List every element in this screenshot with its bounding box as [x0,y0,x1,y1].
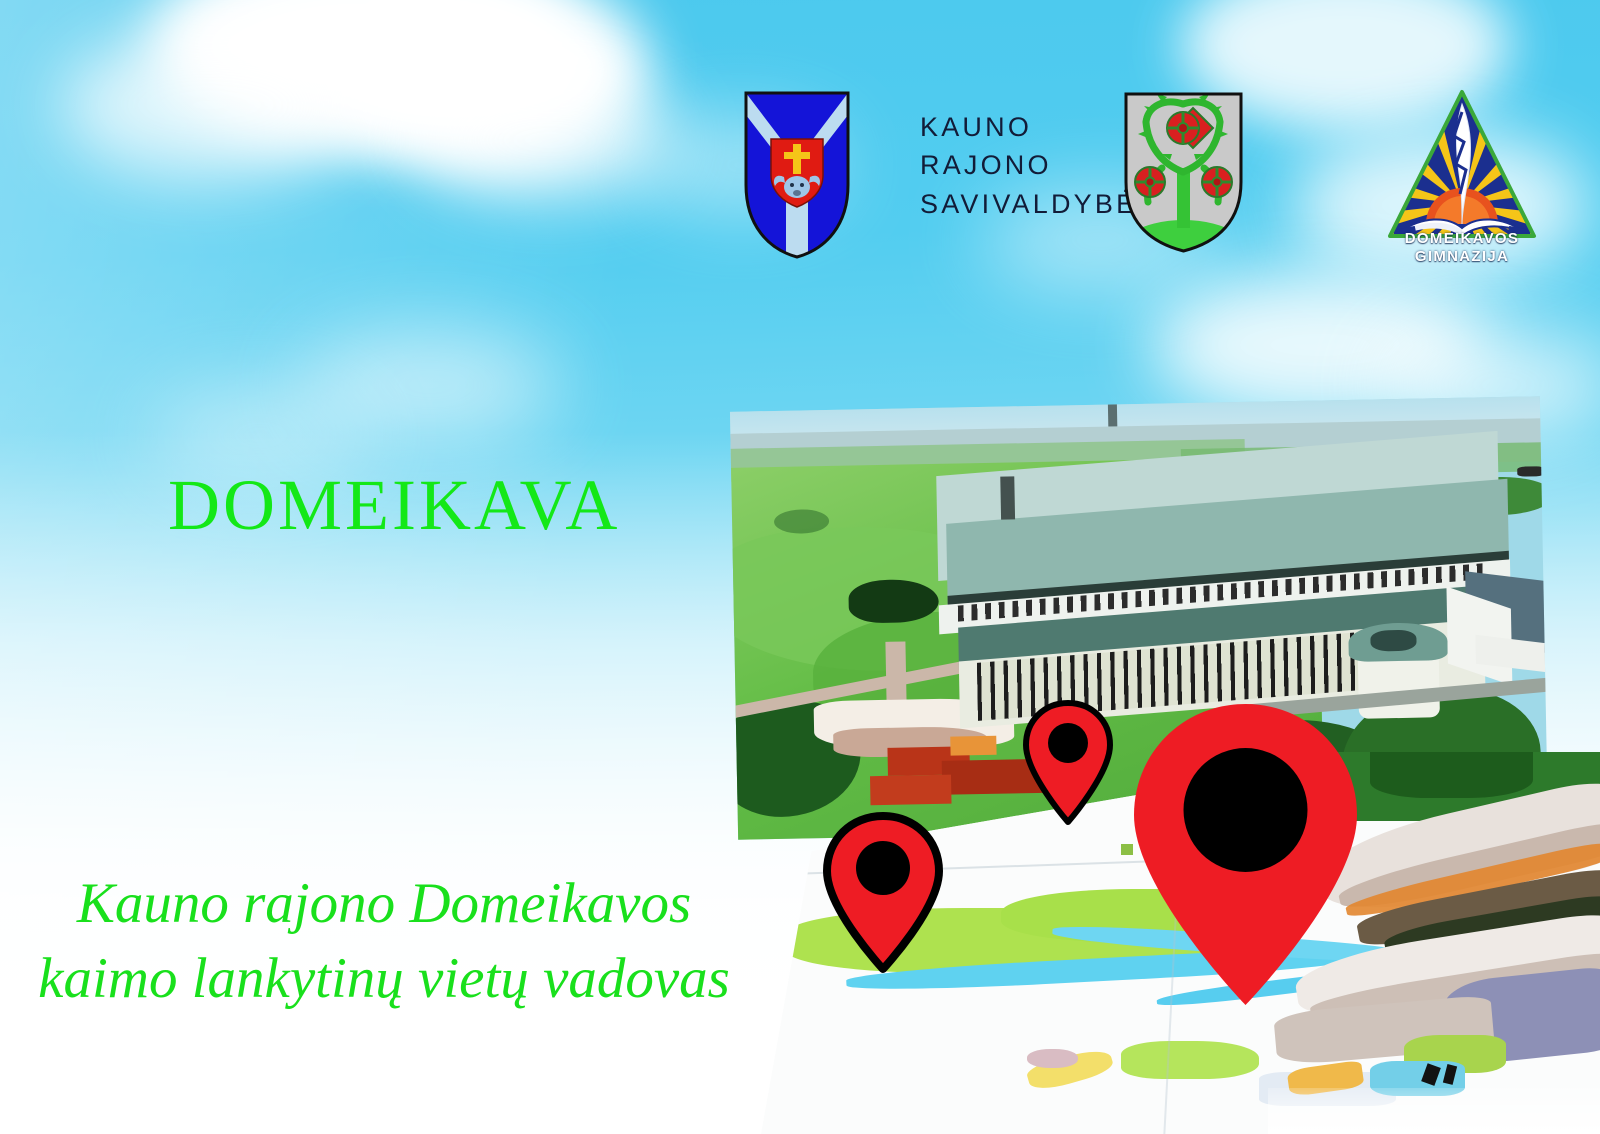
photo-car [1517,466,1544,476]
emblem-row: KAUNO RAJONO SAVIVALDYBĖ [742,84,1542,284]
map-pin-small-right[interactable] [1020,700,1116,826]
photo-orange-roof [951,736,997,756]
hand-bottom-fade [1268,1088,1600,1134]
cloud-shape [300,330,560,440]
cloud-shape [420,80,680,200]
rose [1135,167,1165,197]
hand-bg-foliage [1370,752,1533,798]
kauno-rajono-savivaldybe-coat-of-arms [742,89,852,261]
page-subtitle: Kauno rajono Domeikavos kaimo lankytinų … [24,866,744,1016]
domeikava-coat-of-arms [1122,90,1245,255]
photo-mast [1107,396,1117,427]
photo-pole [1000,477,1014,520]
photo-red-roof [870,775,952,805]
photo-house-chimney [1547,595,1548,615]
photo-turret-dark [1371,629,1417,651]
map-pink-area [1027,1049,1079,1068]
rose [1202,167,1232,197]
cloud-shape [150,0,570,150]
map-pin-small-left[interactable] [820,812,946,974]
map-pin-large[interactable] [1128,700,1363,1012]
brochure-cover-page: KAUNO RAJONO SAVIVALDYBĖ [0,0,1600,1134]
page-title: DOMEIKAVA [168,464,620,547]
domeikavos-gimnazija-label: DOMEIKAVOS GIMNAZIJA [1382,230,1542,267]
cloud-shape [60,30,360,180]
map-green-area [1121,1041,1259,1079]
kauno-rajono-savivaldybe-label: KAUNO RAJONO SAVIVALDYBĖ [920,108,1137,223]
cloud-shape [320,0,650,170]
page-subtitle-line-2: kaimo lankytinų vietų vadovas [24,941,744,1016]
page-subtitle-line-1: Kauno rajono Domeikavos [24,866,744,941]
